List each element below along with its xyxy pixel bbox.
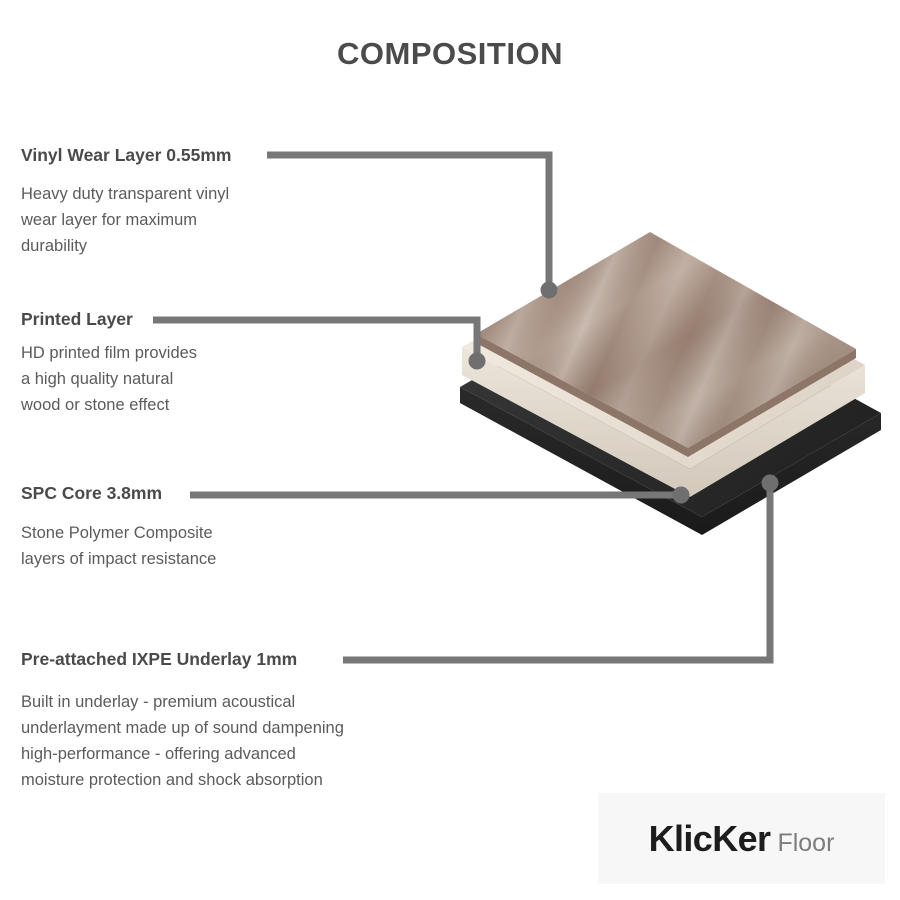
page-title: COMPOSITION — [0, 36, 900, 72]
layer-block-ixpe: Pre-attached IXPE Underlay 1mm Built in … — [21, 650, 344, 793]
layer-block-vinyl: Vinyl Wear Layer 0.55mm Heavy duty trans… — [21, 146, 231, 259]
layer-body-ixpe: Built in underlay - premium acoustical u… — [21, 689, 344, 793]
layer-body-vinyl: Heavy duty transparent vinyl wear layer … — [21, 181, 231, 259]
brand-logo: KlicKer Floor — [598, 793, 885, 884]
layered-plank-illustration — [440, 225, 900, 555]
logo-brand-text: KlicKer — [649, 818, 771, 860]
connector-line-printed — [153, 320, 477, 359]
layer-heading-ixpe: Pre-attached IXPE Underlay 1mm — [21, 650, 344, 669]
layer-heading-printed: Printed Layer — [21, 310, 197, 329]
layer-heading-spc: SPC Core 3.8mm — [21, 484, 216, 503]
product-image — [440, 225, 900, 555]
layer-body-spc: Stone Polymer Composite layers of impact… — [21, 520, 216, 572]
logo-suffix-text: Floor — [777, 829, 834, 858]
layer-block-printed: Printed Layer HD printed film provides a… — [21, 310, 197, 418]
layer-heading-vinyl: Vinyl Wear Layer 0.55mm — [21, 146, 231, 165]
layer-block-spc: SPC Core 3.8mm Stone Polymer Composite l… — [21, 484, 216, 572]
layer-body-printed: HD printed film provides a high quality … — [21, 340, 197, 418]
